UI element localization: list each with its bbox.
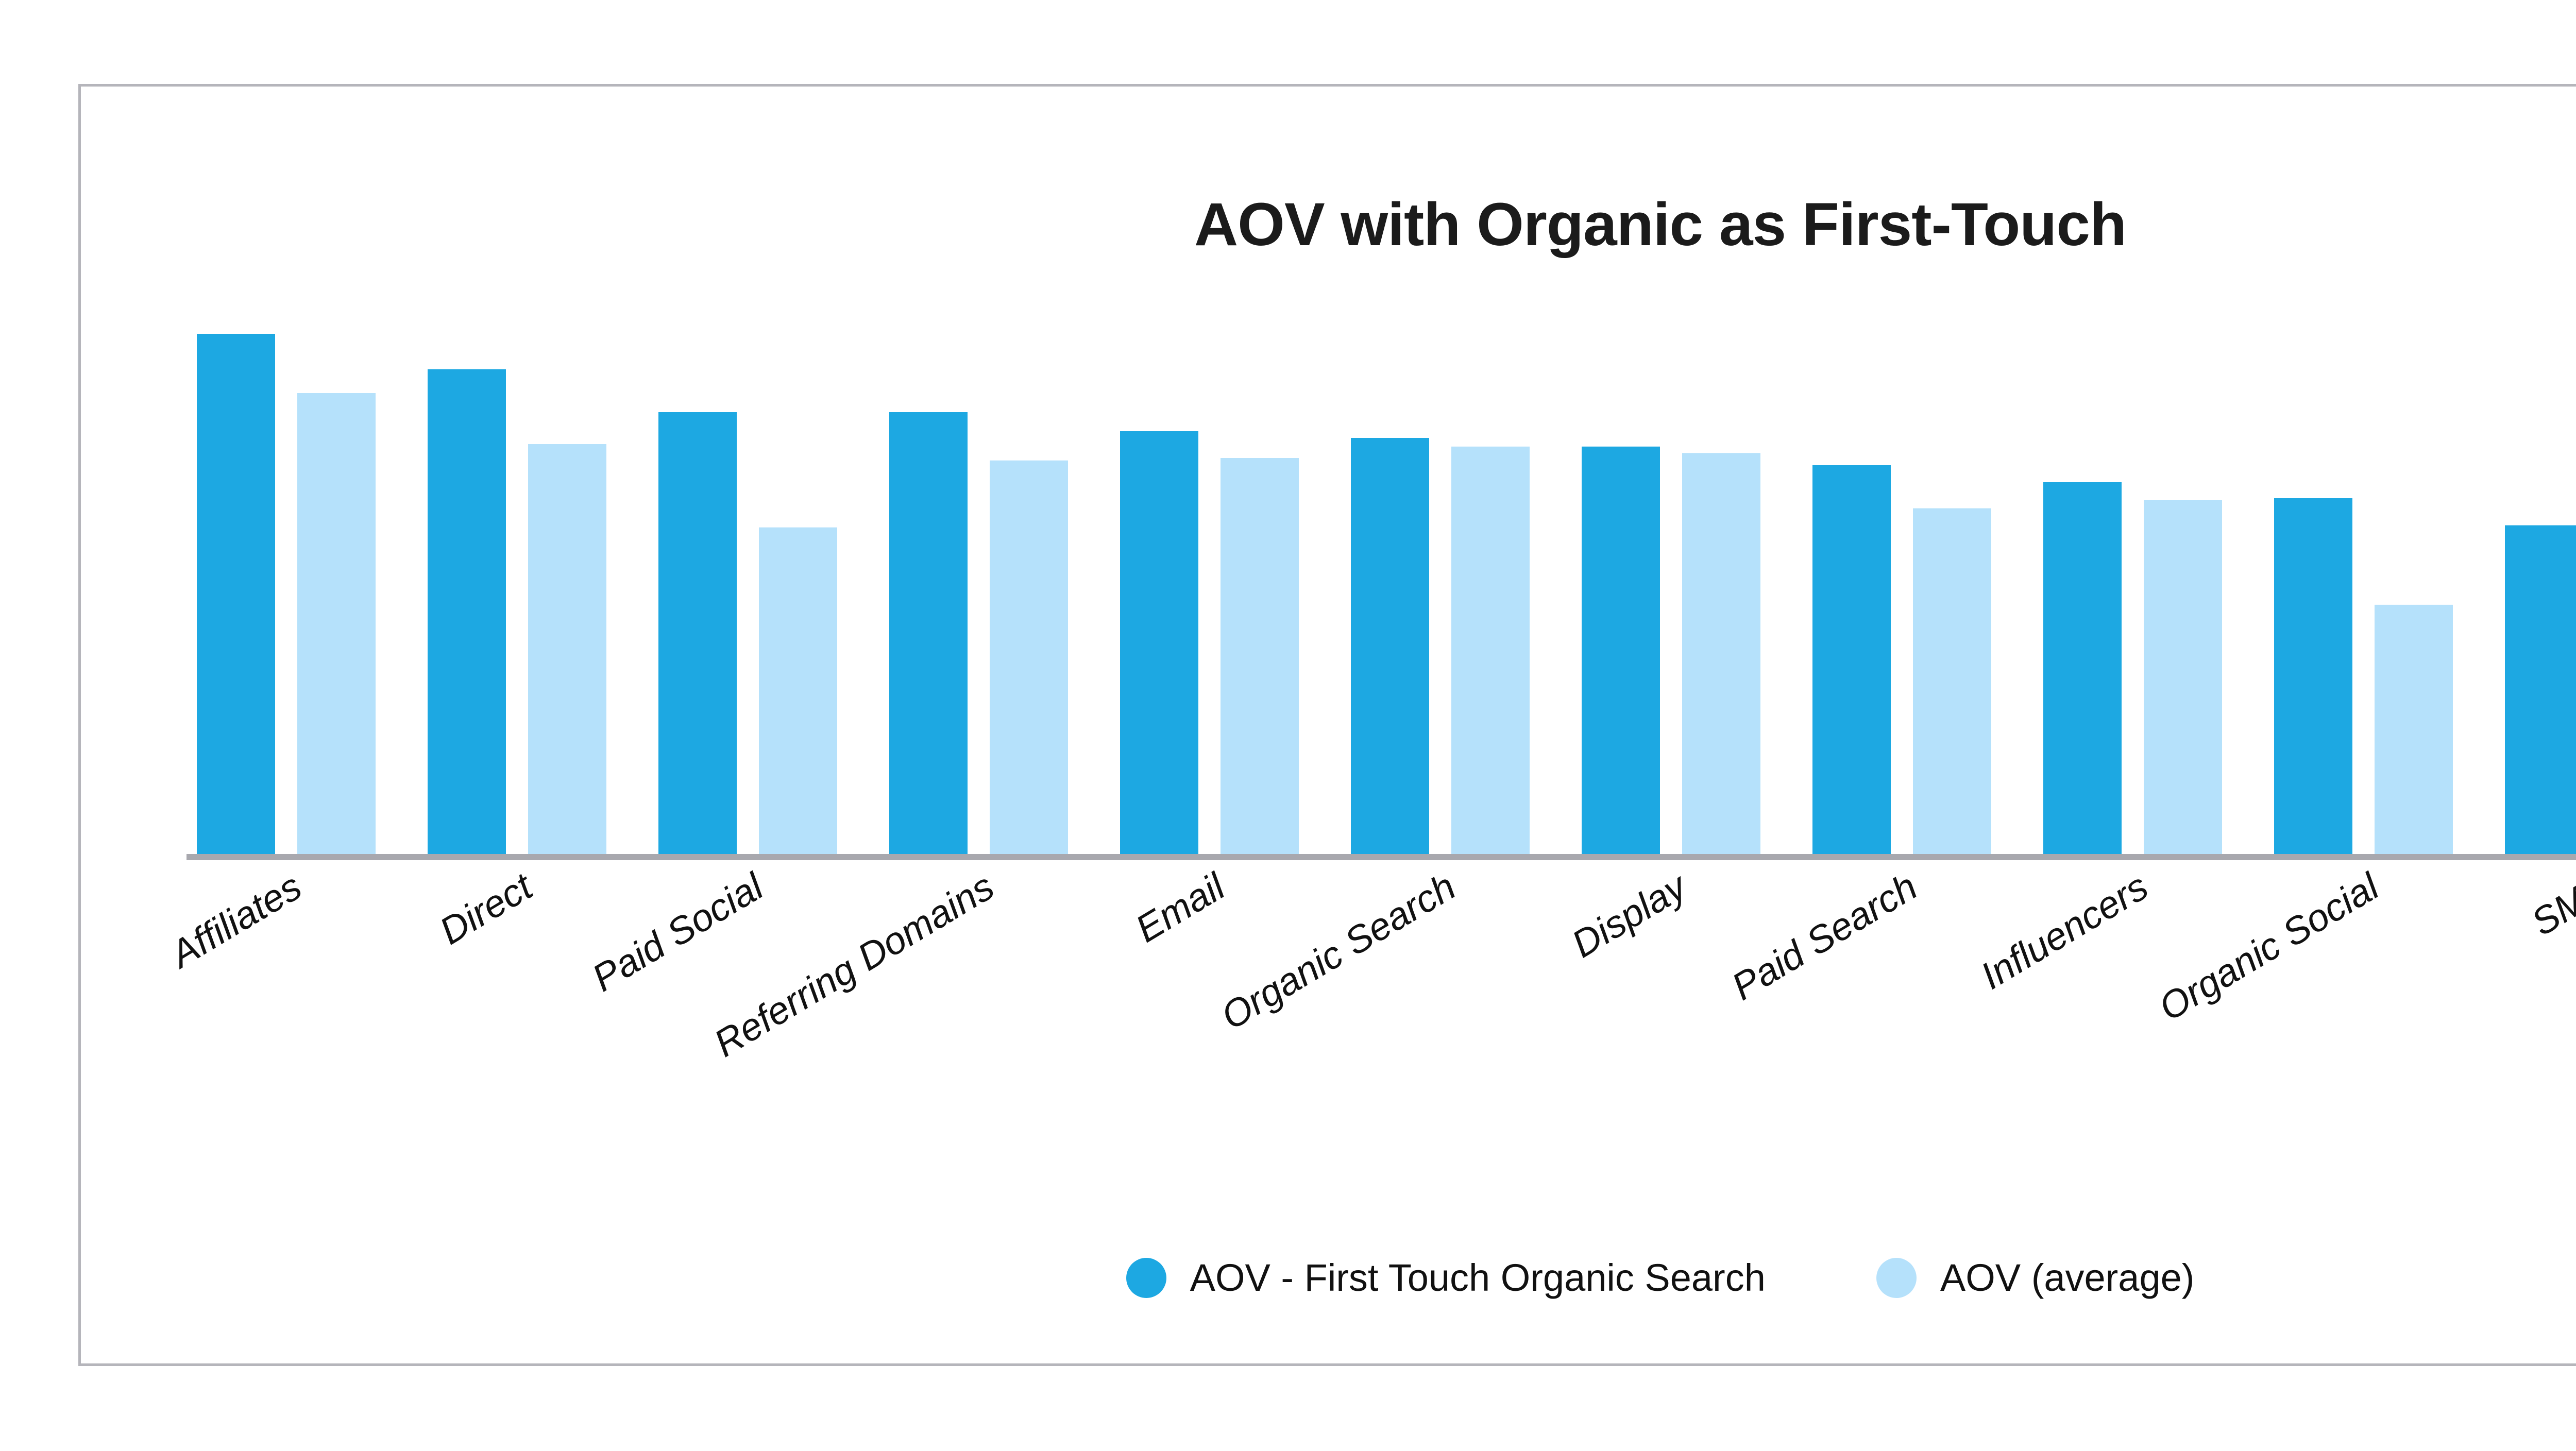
- bar-first-touch-organic: [1582, 447, 1660, 854]
- bar-group: [658, 334, 837, 854]
- legend-item[interactable]: AOV (average): [1876, 1256, 2195, 1300]
- bar-first-touch-organic: [197, 334, 275, 854]
- bar-aov-average: [1221, 458, 1299, 854]
- bar-first-touch-organic: [2274, 498, 2352, 854]
- bar-aov-average: [1913, 508, 1991, 854]
- bar-first-touch-organic: [1120, 431, 1198, 854]
- bar-first-touch-organic: [1351, 438, 1429, 854]
- x-axis-tick-labels: AffiliatesDirectPaid SocialReferring Dom…: [187, 864, 2576, 1153]
- bar-first-touch-organic: [1812, 465, 1891, 854]
- x-axis-line: [187, 854, 2576, 860]
- x-axis-label-text: Affiliates: [163, 864, 309, 976]
- bar-group: [1812, 334, 1991, 854]
- chart-card: AOV with Organic as First-Touch Affiliat…: [78, 84, 2576, 1366]
- legend-item-label: AOV (average): [1940, 1256, 2195, 1300]
- bar-aov-average: [297, 393, 376, 854]
- x-axis-label-text: Paid Social: [585, 864, 771, 1000]
- bar-first-touch-organic: [428, 369, 506, 854]
- bar-group: [2274, 334, 2453, 854]
- bar-group: [2505, 334, 2576, 854]
- x-axis-label-text: Influencers: [1973, 864, 2156, 998]
- page-title: AOV with Organic as First-Touch: [81, 190, 2576, 260]
- bar-aov-average: [990, 460, 1068, 854]
- x-axis-label-text: SMS: [2524, 864, 2576, 944]
- bar-aov-average: [759, 527, 837, 854]
- chart-legend: AOV - First Touch Organic SearchAOV (ave…: [81, 1256, 2576, 1300]
- x-axis-label-text: Paid Search: [1724, 864, 1924, 1009]
- plot-area: [187, 334, 2576, 854]
- bar-group: [1582, 334, 1760, 854]
- x-axis-label-text: Organic Search: [1213, 864, 1463, 1038]
- circle-marker-icon: [1876, 1258, 1917, 1298]
- bar-first-touch-organic: [889, 412, 968, 855]
- legend-item[interactable]: AOV - First Touch Organic Search: [1126, 1256, 1766, 1300]
- bar-group: [1120, 334, 1299, 854]
- bar-aov-average: [528, 444, 606, 854]
- bar-group: [197, 334, 376, 854]
- bar-first-touch-organic: [2505, 525, 2576, 854]
- bar-group: [428, 334, 606, 854]
- x-axis-label-text: Direct: [432, 864, 539, 953]
- bar-group: [1351, 334, 1530, 854]
- bar-group: [2043, 334, 2222, 854]
- x-axis-label-text: Display: [1564, 864, 1694, 966]
- bar-aov-average: [2144, 500, 2222, 854]
- bar-aov-average: [1451, 447, 1530, 854]
- bar-first-touch-organic: [2043, 482, 2122, 854]
- x-axis-label-text: Organic Social: [2151, 864, 2386, 1030]
- legend-item-label: AOV - First Touch Organic Search: [1190, 1256, 1766, 1300]
- circle-marker-icon: [1126, 1258, 1166, 1298]
- bar-group: [889, 334, 1068, 854]
- x-axis-label-text: Email: [1128, 864, 1232, 951]
- bar-aov-average: [2375, 605, 2453, 854]
- bar-first-touch-organic: [658, 412, 737, 855]
- bar-aov-average: [1682, 453, 1760, 854]
